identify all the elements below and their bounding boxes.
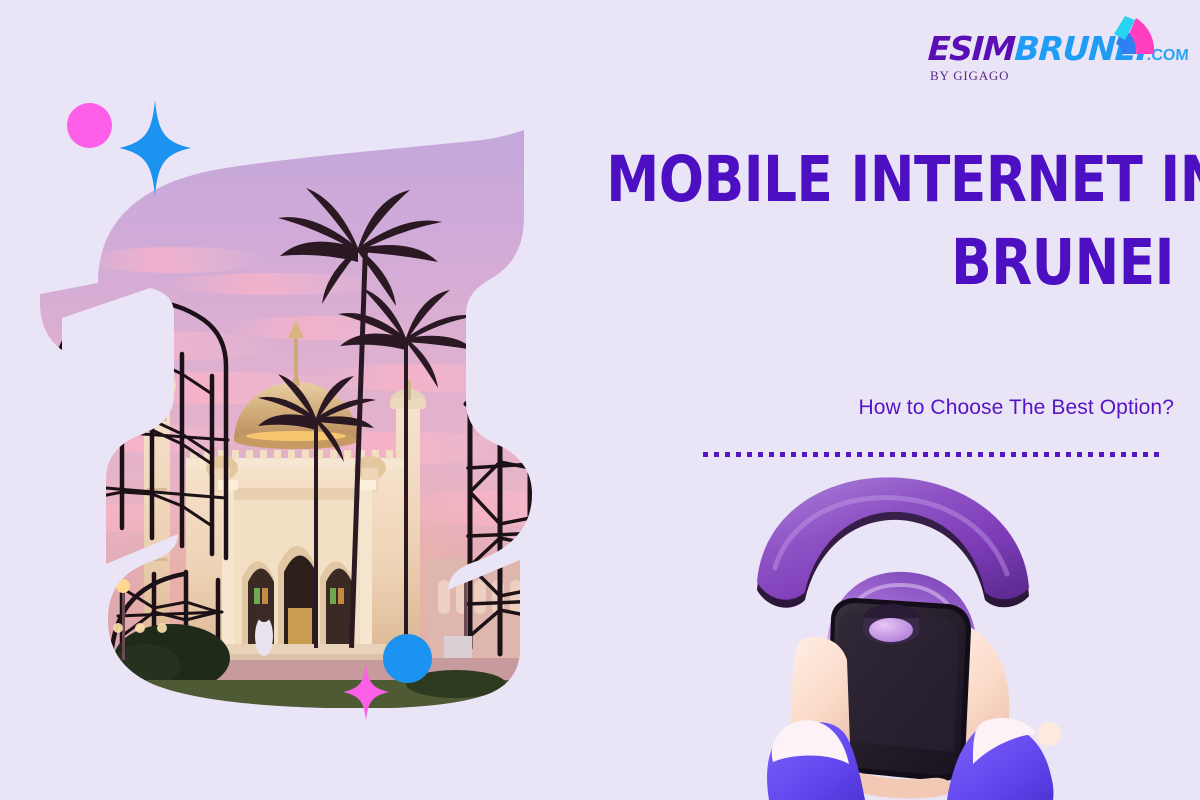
logo-byline: BY GIGAGO [930, 68, 1009, 84]
site-logo[interactable]: ESIMBRUNEI.COM BY GIGAGO [928, 18, 1178, 88]
mosque-photo-svg [26, 88, 582, 708]
signal-fan-icon [1094, 14, 1160, 58]
headline-line-2: BRUNEI [606, 221, 1174, 304]
blue-circle-decor [383, 634, 432, 683]
logo-text-esim: ESIM [927, 29, 1016, 68]
phone-wifi-svg [735, 472, 1075, 800]
phone-wifi-illustration [735, 472, 1075, 800]
pink-sparkle-icon [343, 663, 389, 721]
dotted-divider [703, 452, 1162, 457]
page-title: MOBILE INTERNET IN BRUNEI [606, 138, 1174, 304]
page-subtitle: How to Choose The Best Option? [570, 396, 1174, 420]
banner-canvas: ESIMBRUNEI.COM BY GIGAGO MOBILE INTERNET… [0, 0, 1200, 800]
pink-circle-decor [67, 103, 112, 148]
headline-line-1: MOBILE INTERNET IN [606, 138, 1174, 221]
blue-sparkle-icon [119, 100, 191, 196]
mosque-photo-collage [26, 88, 582, 708]
